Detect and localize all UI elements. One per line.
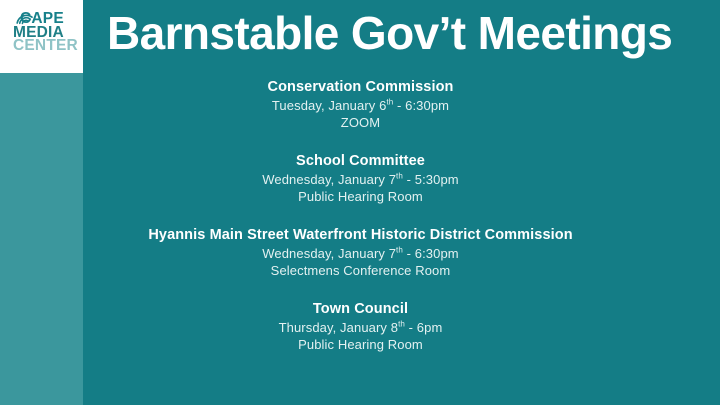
meeting-day: Wednesday, January 7 <box>262 246 396 261</box>
meeting-name: School Committee <box>83 152 638 171</box>
meeting-time: - 6:30pm <box>403 246 459 261</box>
meeting-ordinal: th <box>396 246 403 255</box>
wifi-arc-icon <box>13 10 35 25</box>
meeting-entry: Hyannis Main Street Waterfront Historic … <box>83 226 638 279</box>
meeting-ordinal: th <box>398 320 405 329</box>
slide-canvas: CAPE MEDIA CENTER Barnstable Gov’t Meeti… <box>0 0 720 405</box>
meeting-datetime: Tuesday, January 6th - 6:30pm <box>83 97 638 114</box>
meeting-datetime: Wednesday, January 7th - 6:30pm <box>83 245 638 262</box>
meeting-location: ZOOM <box>83 114 638 131</box>
logo-plate: CAPE MEDIA CENTER <box>0 0 83 73</box>
meeting-datetime: Thursday, January 8th - 6pm <box>83 319 638 336</box>
meeting-time: - 5:30pm <box>403 172 459 187</box>
meeting-name: Conservation Commission <box>83 78 638 97</box>
meeting-day: Wednesday, January 7 <box>262 172 396 187</box>
meeting-entry: School Committee Wednesday, January 7th … <box>83 152 638 205</box>
meeting-entry: Conservation Commission Tuesday, January… <box>83 78 638 131</box>
meeting-time: - 6pm <box>405 320 442 335</box>
logo-line-center: CENTER <box>13 39 75 53</box>
meeting-ordinal: th <box>396 172 403 181</box>
meeting-day: Thursday, January 8 <box>279 320 398 335</box>
meeting-day: Tuesday, January 6 <box>272 98 387 113</box>
meeting-name: Hyannis Main Street Waterfront Historic … <box>83 226 638 245</box>
meeting-time: - 6:30pm <box>393 98 449 113</box>
meeting-name: Town Council <box>83 300 638 319</box>
meeting-entry: Town Council Thursday, January 8th - 6pm… <box>83 300 638 353</box>
meetings-list: Conservation Commission Tuesday, January… <box>83 78 638 353</box>
page-title: Barnstable Gov’t Meetings <box>107 7 707 59</box>
meeting-location: Selectmens Conference Room <box>83 262 638 279</box>
meeting-datetime: Wednesday, January 7th - 5:30pm <box>83 171 638 188</box>
meeting-location: Public Hearing Room <box>83 188 638 205</box>
cape-media-center-logo: CAPE MEDIA CENTER <box>13 12 75 60</box>
meeting-location: Public Hearing Room <box>83 336 638 353</box>
